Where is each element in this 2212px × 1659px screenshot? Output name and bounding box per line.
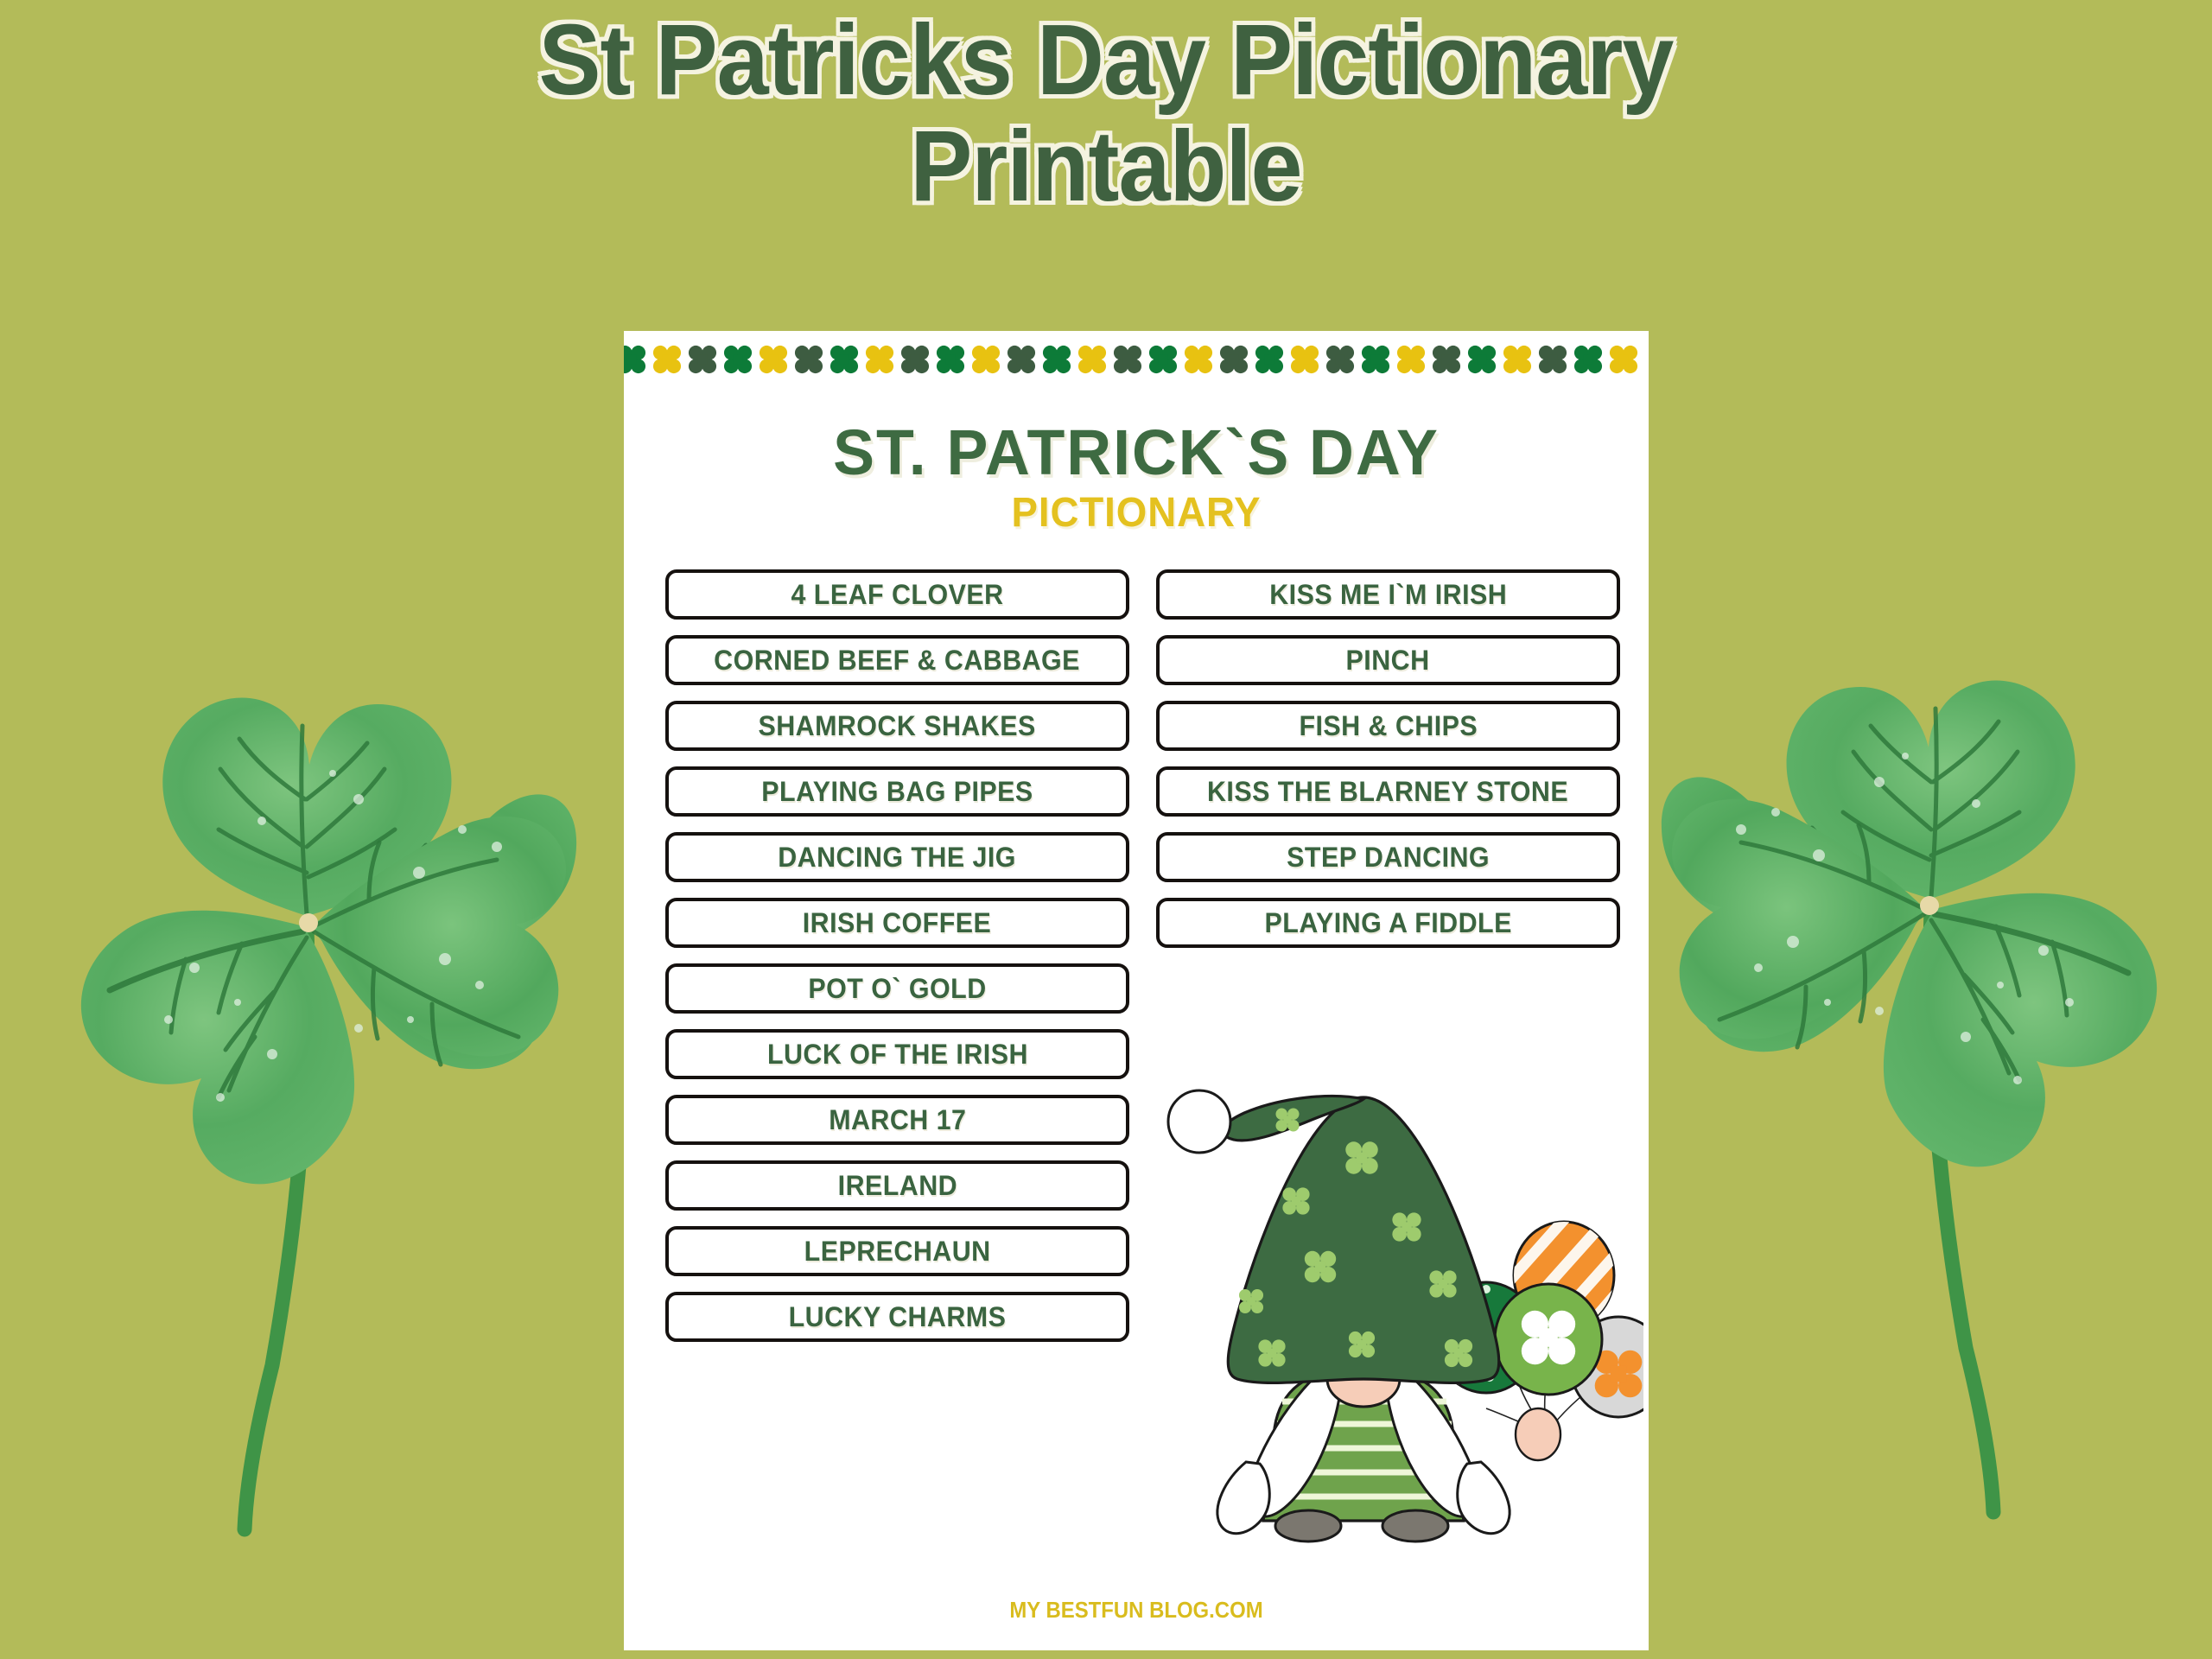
word-box[interactable]: STEP DANCING [1156, 832, 1620, 882]
word-box-label: CORNED BEEF & CABBAGE [715, 645, 1081, 677]
gnome-shoe-left [1275, 1510, 1341, 1541]
clover-leaf-top-right [314, 794, 576, 1069]
word-box[interactable]: LEPRECHAUN [665, 1226, 1129, 1276]
gnome-hand-holding-strings [1516, 1408, 1560, 1460]
border-clover-icon [721, 340, 754, 378]
word-box[interactable]: PLAYING BAG PIPES [665, 766, 1129, 817]
border-clover-icon [1465, 340, 1498, 378]
word-box[interactable]: PLAYING A FIDDLE [1156, 898, 1620, 948]
word-list-left-column: 4 LEAF CLOVERCORNED BEEF & CABBAGESHAMRO… [665, 569, 1129, 1357]
clover-svg [48, 613, 583, 1564]
border-clover-icon [1607, 340, 1640, 378]
page-title: St Patricks Day Pictionary Printable [78, 7, 2135, 219]
four-leaf-clover-right [1655, 596, 2190, 1547]
border-clover-icon [1076, 340, 1109, 378]
balloon-green-clover [1495, 1284, 1602, 1395]
clover-leaf-bottom-left [81, 911, 354, 1185]
word-box-label: IRELAND [837, 1170, 957, 1202]
word-box[interactable]: PINCH [1156, 635, 1620, 685]
clover-leaf-top-right [1662, 777, 1924, 1052]
border-clover-icon [792, 340, 825, 378]
word-box-label: 4 LEAF CLOVER [791, 579, 1003, 611]
word-box-label: KISS THE BLARNEY STONE [1207, 776, 1568, 808]
word-box-label: LUCK OF THE IRISH [767, 1039, 1028, 1071]
word-box-label: POT O` GOLD [808, 973, 986, 1005]
border-clover-icon [863, 340, 896, 378]
border-clover-icon [899, 340, 931, 378]
border-clover-icon [1005, 340, 1038, 378]
word-box[interactable]: IRISH COFFEE [665, 898, 1129, 948]
four-leaf-clover-left [48, 613, 583, 1564]
border-clover-icon [1111, 340, 1144, 378]
page-title-line-1: St Patricks Day Pictionary [78, 7, 2135, 113]
word-box-label: DANCING THE JIG [779, 842, 1017, 874]
border-clover-icon [1501, 340, 1534, 378]
word-box-label: PLAYING BAG PIPES [761, 776, 1033, 808]
border-clover-icon [1359, 340, 1392, 378]
word-box[interactable]: MARCH 17 [665, 1095, 1129, 1145]
word-box[interactable]: KISS ME I`M IRISH [1156, 569, 1620, 620]
clover-leaf-top-left [162, 698, 451, 916]
clover-svg [1655, 596, 2190, 1547]
clover-center [1920, 896, 1939, 915]
word-box-label: STEP DANCING [1287, 842, 1490, 874]
border-clover-icon [1288, 340, 1321, 378]
clover-leaf-bottom-left [1884, 893, 2157, 1167]
word-box-label: PLAYING A FIDDLE [1264, 907, 1511, 939]
border-clover-icon [1040, 340, 1073, 378]
word-box-label: LUCKY CHARMS [789, 1301, 1007, 1333]
word-box[interactable]: 4 LEAF CLOVER [665, 569, 1129, 620]
word-box[interactable]: FISH & CHIPS [1156, 701, 1620, 751]
card-footer: MY BESTFUN BLOG.COM [664, 1597, 1607, 1624]
border-clover-icon [686, 340, 719, 378]
word-list-right-column: KISS ME I`M IRISHPINCHFISH & CHIPSKISS T… [1156, 569, 1620, 963]
gnome-hand-right [1458, 1462, 1510, 1534]
word-box[interactable]: KISS THE BLARNEY STONE [1156, 766, 1620, 817]
gnome-with-balloons-illustration [1142, 1078, 1643, 1580]
border-clover-icon [1324, 340, 1357, 378]
clover-stem [1930, 907, 1993, 1512]
word-box[interactable]: CORNED BEEF & CABBAGE [665, 635, 1129, 685]
word-box[interactable]: LUCKY CHARMS [665, 1292, 1129, 1342]
card-subtitle: PICTIONARY [650, 489, 1624, 537]
word-box-label: MARCH 17 [829, 1104, 966, 1136]
border-clover-icon [1395, 340, 1427, 378]
word-box[interactable]: LUCK OF THE IRISH [665, 1029, 1129, 1079]
word-box-label: FISH & CHIPS [1299, 710, 1478, 742]
gnome-svg [1142, 1078, 1643, 1580]
word-box-label: IRISH COFFEE [803, 907, 992, 939]
word-box-label: KISS ME I`M IRISH [1269, 579, 1507, 611]
gnome-shoe-right [1382, 1510, 1448, 1541]
border-clover-icon [1182, 340, 1215, 378]
page-title-line-2: Printable [78, 113, 2135, 219]
word-box-label: PINCH [1346, 645, 1430, 677]
word-box-label: LEPRECHAUN [804, 1236, 991, 1268]
border-clover-icon [828, 340, 861, 378]
clover-center [299, 913, 318, 932]
clover-leaf-bottom-right [312, 817, 566, 1065]
clover-speckles [164, 770, 502, 1102]
printable-card: ST. PATRICK`S DAY PICTIONARY 4 LEAF CLOV… [624, 331, 1649, 1650]
clover-leaf-bottom-right [1672, 799, 1926, 1047]
word-box[interactable]: DANCING THE JIG [665, 832, 1129, 882]
word-box[interactable]: SHAMROCK SHAKES [665, 701, 1129, 751]
clover-leaf-top-left [1787, 681, 2075, 899]
border-clover-icon [1430, 340, 1463, 378]
clover-stem [245, 925, 308, 1529]
border-clover-icon [1253, 340, 1286, 378]
card-title: ST. PATRICK`S DAY [639, 416, 1633, 489]
border-clover-icon [624, 340, 648, 378]
border-clover-icon [757, 340, 790, 378]
clover-speckles [1736, 753, 2074, 1084]
word-box-label: SHAMROCK SHAKES [759, 710, 1036, 742]
border-clover-icon [934, 340, 967, 378]
border-clover-icon [1217, 340, 1250, 378]
gnome-pompom [1168, 1090, 1230, 1153]
word-box[interactable]: POT O` GOLD [665, 963, 1129, 1014]
gnome-hand-left [1217, 1462, 1269, 1534]
border-clover-icon [1572, 340, 1605, 378]
clover-border-strip [624, 336, 1649, 383]
border-clover-icon [969, 340, 1002, 378]
border-clover-icon [651, 340, 683, 378]
border-clover-icon [1536, 340, 1569, 378]
word-box[interactable]: IRELAND [665, 1160, 1129, 1211]
border-clover-icon [1147, 340, 1179, 378]
